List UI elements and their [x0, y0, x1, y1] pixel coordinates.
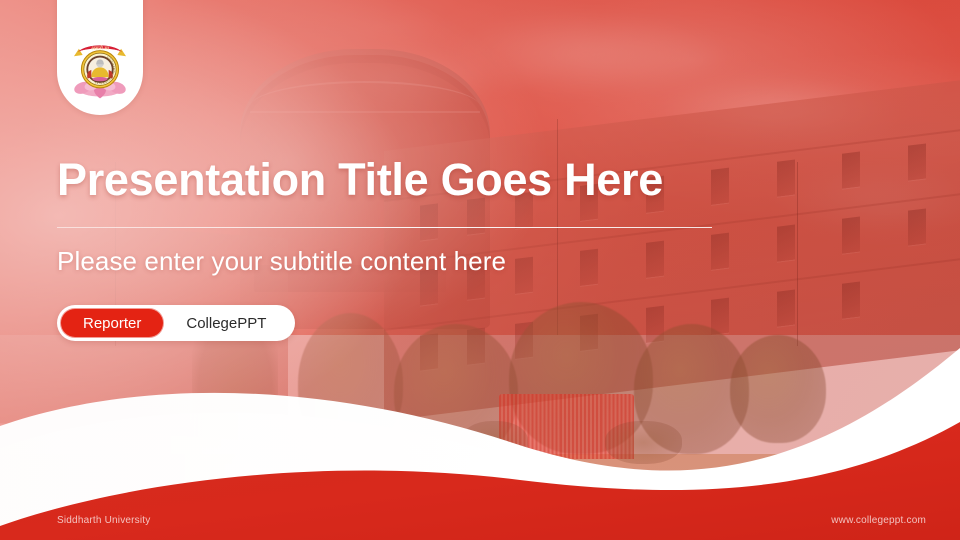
slide-subtitle: Please enter your subtitle content here [57, 246, 757, 277]
reporter-label[interactable]: Reporter [60, 308, 164, 338]
presentation-slide: SIDDHARTH UNIVERSITY असतो मा Presentatio… [0, 0, 960, 540]
footer-website-url[interactable]: www.collegeppt.com [831, 515, 926, 526]
reporter-capsule[interactable]: Reporter CollegePPT [57, 305, 295, 341]
footer-university-name: Siddharth University [57, 515, 150, 526]
title-divider [57, 227, 712, 228]
page-title: Presentation Title Goes Here [57, 155, 757, 205]
svg-text:असतो मा: असतो मा [91, 45, 110, 52]
slide-content: Presentation Title Goes Here Please ente… [57, 155, 757, 341]
reporter-value[interactable]: CollegePPT [164, 315, 292, 332]
wave-decoration [0, 330, 960, 540]
logo-tab: SIDDHARTH UNIVERSITY असतो मा [57, 0, 143, 115]
siddharth-university-emblem-icon: SIDDHARTH UNIVERSITY असतो मा [69, 35, 131, 101]
